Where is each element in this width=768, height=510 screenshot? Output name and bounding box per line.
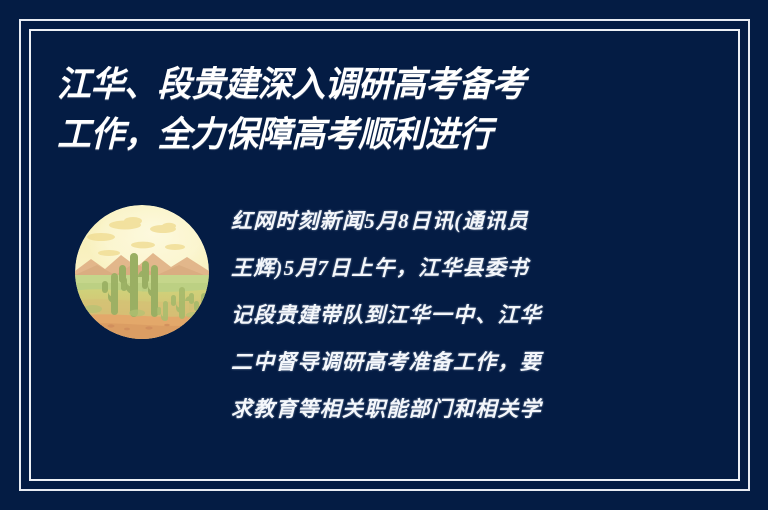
article-thumbnail: [75, 205, 209, 339]
article-line-3: 记段贵建带队到江华一中、江华: [231, 292, 651, 339]
desert-scene-icon: [75, 205, 209, 339]
article-line-5: 求教育等相关职能部门和相关学: [231, 386, 651, 433]
article-body: 红网时刻新闻5月8日讯(通讯员 王辉)5月7日上午，江华县委书 记段贵建带队到江…: [57, 198, 707, 448]
headline-line-1: 江华、段贵建深入调研高考备考: [57, 60, 678, 110]
article-line-2: 王辉)5月7日上午，江华县委书: [231, 245, 651, 292]
article-text: 红网时刻新闻5月8日讯(通讯员 王辉)5月7日上午，江华县委书 记段贵建带队到江…: [231, 198, 651, 433]
news-card: 江华、段贵建深入调研高考备考 工作，全力保障高考顺利进行: [0, 0, 768, 510]
article-line-4: 二中督导调研高考准备工作，要: [231, 339, 651, 386]
article-line-1: 红网时刻新闻5月8日讯(通讯员: [231, 198, 651, 245]
headline-line-2: 工作，全力保障高考顺利进行: [57, 110, 678, 160]
headline: 江华、段贵建深入调研高考备考 工作，全力保障高考顺利进行: [57, 60, 697, 160]
